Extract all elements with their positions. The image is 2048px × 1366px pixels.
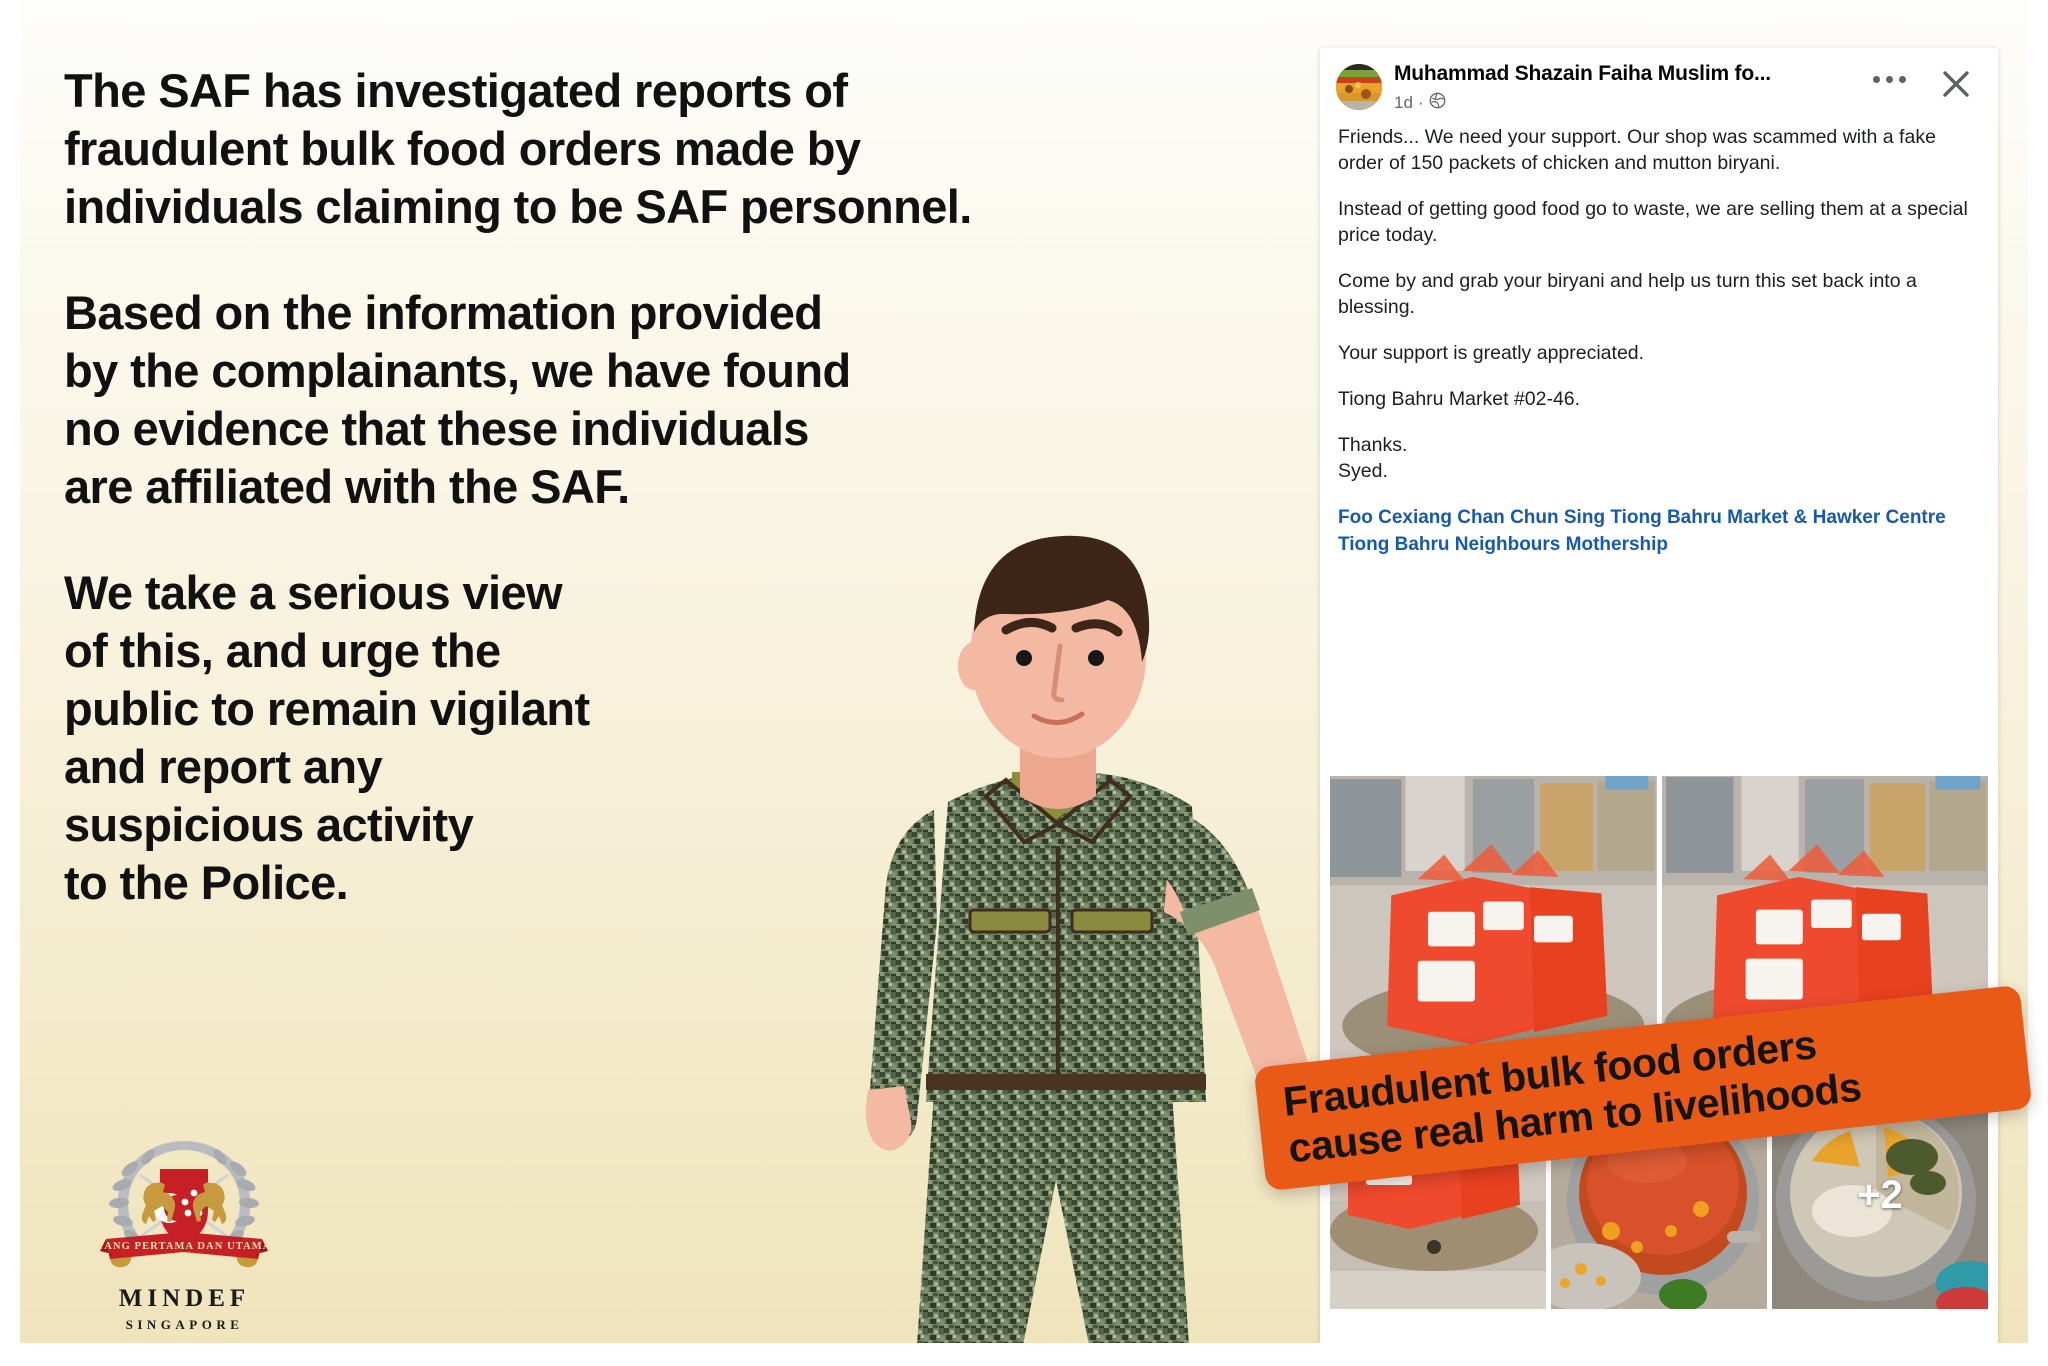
close-icon[interactable]: [1936, 64, 1976, 104]
post-tagged-pages-link[interactable]: Foo Cexiang Chan Chun Sing Tiong Bahru M…: [1320, 504, 1998, 558]
avatar[interactable]: [1336, 64, 1382, 110]
post-paragraph-1: Friends... We need your support. Our sho…: [1338, 124, 1980, 176]
post-paragraph-5: Tiong Bahru Market #02-46.: [1338, 386, 1980, 412]
mindef-subtitle: SINGAPORE: [82, 1317, 287, 1333]
meta-separator: ·: [1418, 93, 1424, 113]
advisory-card: The SAF has investigated reports of frau…: [20, 0, 2028, 1343]
soldier-illustration: [720, 480, 1360, 1343]
post-author-name[interactable]: Muhammad Shazain Faiha Muslim fo...: [1394, 62, 1771, 86]
more-options-icon[interactable]: [1873, 76, 1906, 83]
globe-icon[interactable]: [1429, 92, 1446, 114]
mindef-crest-icon: YANG PERTAMA DAN UTAMA: [82, 1133, 287, 1283]
facebook-post-body: Friends... We need your support. Our sho…: [1320, 120, 1998, 484]
avatar-food-image: [1336, 64, 1382, 110]
poster-root: The SAF has investigated reports of frau…: [0, 0, 2048, 1366]
post-paragraph-3: Come by and grab your biryani and help u…: [1338, 268, 1980, 320]
post-paragraph-4: Your support is greatly appreciated.: [1338, 340, 1980, 366]
facebook-post-header: Muhammad Shazain Faiha Muslim fo... 1d ·: [1320, 48, 1998, 120]
mindef-wordmark: MINDEF: [82, 1285, 287, 1313]
mindef-logo-lockup: YANG PERTAMA DAN UTAMA MINDEF SINGAPORE: [82, 1133, 287, 1333]
post-timestamp[interactable]: 1d: [1394, 93, 1413, 113]
svg-text:YANG PERTAMA DAN UTAMA: YANG PERTAMA DAN UTAMA: [96, 1241, 271, 1252]
headline-paragraph-1: The SAF has investigated reports of frau…: [64, 62, 1064, 236]
post-paragraph-2: Instead of getting good food go to waste…: [1338, 196, 1980, 248]
post-paragraph-6: Thanks. Syed.: [1338, 432, 1980, 484]
post-meta: 1d ·: [1394, 92, 1446, 114]
